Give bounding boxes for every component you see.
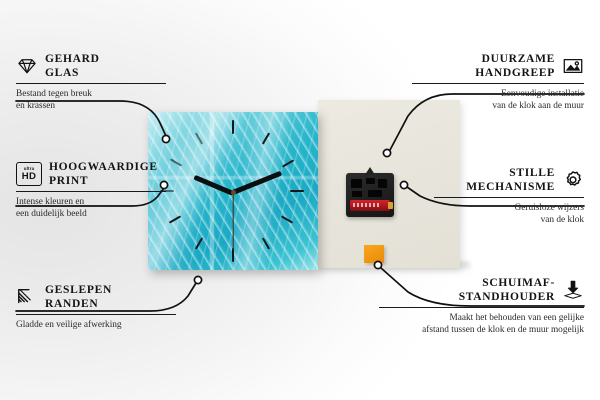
- battery-part: [350, 200, 390, 211]
- feature-hoogwaardige-print: ultra HD HOOGWAARDIGE PRINT Intense kleu…: [16, 160, 166, 220]
- clock-hand-hub: [231, 190, 236, 195]
- wall-clock-product: [148, 112, 318, 270]
- feature-title: GEHARD GLAS: [45, 52, 100, 80]
- bevelled-edge-icon: [16, 286, 38, 308]
- feature-title: STILLE MECHANISME: [466, 166, 555, 194]
- infographic-canvas: GEHARD GLAS Bestand tegen breuk en krass…: [0, 0, 600, 400]
- feature-description: Bestand tegen breuk en krassen: [16, 88, 166, 113]
- feature-description: Geruisloze wijzers van de klok: [434, 202, 584, 227]
- gear-icon: [562, 169, 584, 191]
- movement-slot: [366, 178, 375, 184]
- feature-header: SCHUIMAF- STANDHOUDER: [379, 276, 584, 304]
- feature-duurzame-handgreep: DUURZAME HANDGREEP Eenvoudige installati…: [412, 52, 584, 112]
- feature-description: Maakt het behouden van een gelijke afsta…: [379, 312, 584, 337]
- feature-rule: [16, 314, 176, 315]
- feature-rule: [379, 307, 584, 308]
- clock-movement-part: [346, 173, 394, 217]
- diamond-icon: [16, 55, 38, 77]
- feature-title: GESLEPEN RANDEN: [45, 283, 112, 311]
- feature-rule: [434, 197, 584, 198]
- feature-title: SCHUIMAF- STANDHOUDER: [459, 276, 555, 304]
- feature-header: DUURZAME HANDGREEP: [412, 52, 584, 80]
- feature-rule: [16, 83, 166, 84]
- foam-spacer-part: [364, 245, 384, 263]
- movement-slot: [368, 190, 382, 197]
- feature-header: STILLE MECHANISME: [434, 166, 584, 194]
- movement-slot: [351, 179, 362, 188]
- feature-title: DUURZAME HANDGREEP: [475, 52, 555, 80]
- feature-title: HOOGWAARDIGE PRINT: [49, 160, 158, 188]
- clock-hand-second: [232, 193, 233, 251]
- battery-terminal: [388, 202, 393, 209]
- feature-gehard-glas: GEHARD GLAS Bestand tegen breuk en krass…: [16, 52, 166, 112]
- feature-stille-mechanisme: STILLE MECHANISME Geruisloze wijzers van…: [434, 166, 584, 226]
- picture-frame-icon: [562, 55, 584, 77]
- feature-description: Intense kleuren en een duidelijk beeld: [16, 196, 166, 221]
- feature-schuimafstandhouder: SCHUIMAF- STANDHOUDER Maakt het behouden…: [379, 276, 584, 336]
- spacer-arrow-icon: [562, 279, 584, 301]
- movement-slot: [352, 191, 362, 197]
- battery-label: [353, 203, 379, 207]
- feature-header: GESLEPEN RANDEN: [16, 283, 176, 311]
- feature-header: GEHARD GLAS: [16, 52, 166, 80]
- callout-dot-geslepen-randen: [194, 276, 201, 283]
- feature-geslepen-randen: GESLEPEN RANDEN Gladde en veilige afwerk…: [16, 283, 176, 331]
- ultra-hd-icon-large-text: HD: [22, 172, 36, 182]
- feature-description: Eenvoudige installatie van de klok aan d…: [412, 88, 584, 113]
- feature-rule: [412, 83, 584, 84]
- ultra-hd-icon: ultra HD: [16, 162, 42, 186]
- feature-header: ultra HD HOOGWAARDIGE PRINT: [16, 160, 166, 188]
- clock-tick: [290, 190, 304, 192]
- feature-description: Gladde en veilige afwerking: [16, 319, 176, 331]
- clock-tick: [232, 120, 234, 134]
- movement-slot: [378, 179, 387, 188]
- feature-rule: [16, 191, 166, 192]
